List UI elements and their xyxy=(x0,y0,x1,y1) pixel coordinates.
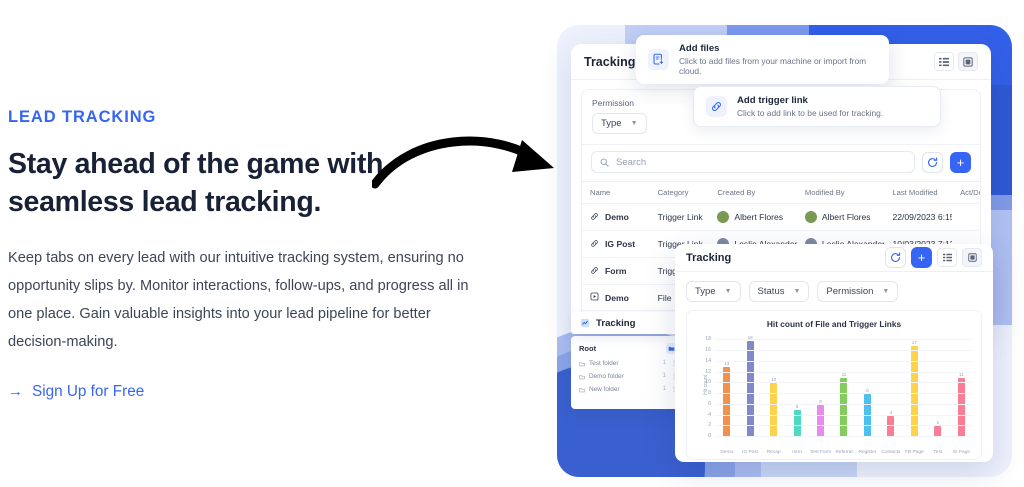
chart-bar xyxy=(770,383,777,437)
bar-value-label: 5 xyxy=(796,404,799,409)
folder-count: 1 xyxy=(663,373,666,380)
column-header: Name xyxy=(582,182,650,204)
y-tick-label: 4 xyxy=(708,412,711,418)
chart-filter-permission[interactable]: Permission▼ xyxy=(817,281,898,302)
chart-bar xyxy=(840,378,847,437)
cell-name: Demo xyxy=(582,285,650,311)
grid-line: 0 xyxy=(715,436,973,437)
cell-last-modified: 22/09/2023 6:15 PM xyxy=(884,204,952,231)
y-tick-label: 10 xyxy=(705,379,711,385)
chart-window-title: Tracking xyxy=(686,252,731,264)
window-title: Tracking xyxy=(584,55,635,69)
y-tick-label: 6 xyxy=(708,401,711,407)
refresh-icon[interactable] xyxy=(885,247,906,268)
permission-type-value: Type xyxy=(601,118,622,129)
tracking-mini-tab[interactable]: Tracking xyxy=(571,312,685,334)
add-trigger-link-tooltip[interactable]: Add trigger link Click to add link to be… xyxy=(693,86,941,127)
grid-view-icon[interactable] xyxy=(962,248,982,267)
search-placeholder: Search xyxy=(616,157,646,168)
y-tick-label: 18 xyxy=(705,336,711,342)
folder-item[interactable]: Test folder1⋮ xyxy=(579,360,677,367)
chart-toolbar: + xyxy=(885,247,982,268)
chart-bar xyxy=(958,378,965,437)
table-header-row: Name Category Created By Modified By Las… xyxy=(582,182,980,204)
bar-value-label: 11 xyxy=(959,372,964,377)
search-icon xyxy=(600,158,609,167)
file-icon xyxy=(590,292,599,303)
bar-value-label: 17 xyxy=(912,340,917,345)
tooltip-subtitle: Click to add files from your machine or … xyxy=(679,56,877,76)
chevron-down-icon: ▼ xyxy=(882,288,889,295)
folder-name: New folder xyxy=(589,386,620,393)
list-view-icon[interactable] xyxy=(934,52,954,71)
refresh-icon[interactable] xyxy=(922,152,943,173)
x-tick-label: IG Post xyxy=(738,450,761,455)
grid-line: 10 xyxy=(715,382,973,383)
y-tick-label: 2 xyxy=(708,422,711,428)
tooltip-subtitle: Click to add link to be used for trackin… xyxy=(737,108,883,118)
bar-value-label: 13 xyxy=(724,361,729,366)
chart-filter-group: Type▼Status▼Permission▼ xyxy=(675,272,993,310)
folder-icon xyxy=(579,387,585,393)
list-view-icon[interactable] xyxy=(937,248,957,267)
cell-modified-by: Albert Flores xyxy=(797,204,885,231)
column-header: Act/Dct xyxy=(952,182,980,204)
chart-bar xyxy=(911,346,918,437)
x-tick-label: Contacts xyxy=(879,450,902,455)
chevron-down-icon: ▼ xyxy=(631,120,638,127)
y-tick-label: 0 xyxy=(708,433,711,439)
column-header: Category xyxy=(650,182,710,204)
chart-filter-type[interactable]: Type▼ xyxy=(686,281,741,302)
column-header: Created By xyxy=(709,182,797,204)
folder-count: 1 xyxy=(663,386,666,393)
sign-up-label: Sign Up for Free xyxy=(32,383,144,401)
cell-toggle[interactable] xyxy=(952,204,980,231)
y-tick-label: 8 xyxy=(708,390,711,396)
search-input[interactable]: Search xyxy=(591,151,915,173)
link-icon xyxy=(590,212,599,223)
cell-name: IG Post xyxy=(582,231,650,258)
curved-arrow-icon xyxy=(372,126,572,198)
folder-name: Demo folder xyxy=(589,373,624,380)
page-root: LEAD TRACKING Stay ahead of the game wit… xyxy=(0,0,1024,487)
root-folder-panel: Root Test folder1⋮Demo folder1⋮New folde… xyxy=(571,336,685,409)
grid-line: 2 xyxy=(715,425,973,426)
tooltip-title: Add files xyxy=(679,43,877,54)
root-title: Root xyxy=(579,344,596,353)
folder-item[interactable]: Demo folder1⋮ xyxy=(579,373,677,380)
chart-container: Hit count of File and Trigger Links Hit … xyxy=(686,310,982,460)
folder-icon xyxy=(579,361,585,367)
x-tick-label: Demo xyxy=(715,450,738,455)
folder-name: Test folder xyxy=(589,360,618,367)
chart-bar xyxy=(817,405,824,437)
chart-bar xyxy=(747,341,754,437)
chart-window: Tracking + Type▼Status▼Permission▼ Hi xyxy=(675,244,993,462)
grid-line: 12 xyxy=(715,372,973,373)
cell-category: Trigger Link xyxy=(650,204,710,231)
link-icon xyxy=(590,239,599,250)
bar-value-label: 11 xyxy=(842,372,847,377)
sign-up-link[interactable]: → Sign Up for Free xyxy=(8,383,144,401)
arrow-right-icon: → xyxy=(8,384,23,399)
x-tick-label: Test Form xyxy=(809,450,832,455)
mini-tab-label: Tracking xyxy=(596,318,635,329)
y-tick-label: 14 xyxy=(705,358,711,364)
chevron-down-icon: ▼ xyxy=(725,288,732,295)
x-tick-label: Referral xyxy=(832,450,855,455)
column-header: Modified By xyxy=(797,182,885,204)
x-tick-label: Intro xyxy=(785,450,808,455)
grid-line: 18 xyxy=(715,339,973,340)
cell-name: Form xyxy=(582,258,650,285)
y-tick-label: 16 xyxy=(705,347,711,353)
chevron-down-icon: ▼ xyxy=(793,288,800,295)
permission-type-select[interactable]: Type ▼ xyxy=(592,113,647,134)
link-icon xyxy=(706,96,727,117)
x-tick-label: Register xyxy=(856,450,879,455)
product-mockup: Tracking Permission Type ▼ xyxy=(553,10,1018,480)
file-add-icon xyxy=(648,49,669,70)
chart-x-tick-labels: DemoIG PostRecapIntroTest FormReferralRe… xyxy=(715,450,973,455)
chart-filter-status[interactable]: Status▼ xyxy=(749,281,810,302)
grid-view-icon[interactable] xyxy=(958,52,978,71)
chart-plot-area: 13181056118417211 024681012141618 xyxy=(715,335,973,437)
grid-line: 16 xyxy=(715,350,973,351)
chart-title: Hit count of File and Trigger Links xyxy=(693,319,975,329)
folder-count: 1 xyxy=(663,360,666,367)
eyebrow-label: LEAD TRACKING xyxy=(8,108,508,127)
chart-bar xyxy=(864,394,871,437)
chart-window-header: Tracking + xyxy=(675,244,993,272)
cell-name: Demo xyxy=(582,204,650,231)
chart-bar xyxy=(723,367,730,437)
grid-line: 14 xyxy=(715,361,973,362)
view-toggle-group xyxy=(934,52,978,71)
x-tick-label: IG Page xyxy=(950,450,973,455)
link-icon xyxy=(590,266,599,277)
add-files-tooltip[interactable]: Add files Click to add files from your m… xyxy=(636,35,889,84)
tooltip-title: Add trigger link xyxy=(737,95,883,106)
folder-item[interactable]: New folder1⋮ xyxy=(579,386,677,393)
y-tick-label: 12 xyxy=(705,369,711,375)
tracking-icon xyxy=(580,318,590,328)
x-tick-label: Test xyxy=(926,450,949,455)
grid-line: 6 xyxy=(715,404,973,405)
body-paragraph: Keep tabs on every lead with our intuiti… xyxy=(8,244,490,356)
column-header: Last Modified xyxy=(884,182,952,204)
add-button[interactable]: + xyxy=(911,247,932,268)
grid-line: 8 xyxy=(715,393,973,394)
cell-created-by: Albert Flores xyxy=(709,204,797,231)
root-header: Root xyxy=(579,343,677,354)
table-row[interactable]: DemoTrigger LinkAlbert FloresAlbert Flor… xyxy=(582,204,980,231)
add-button[interactable]: + xyxy=(950,152,971,173)
folder-list: Test folder1⋮Demo folder1⋮New folder1⋮ xyxy=(579,360,677,393)
grid-line: 4 xyxy=(715,415,973,416)
x-tick-label: FB Page xyxy=(903,450,926,455)
folder-icon xyxy=(579,374,585,380)
search-row: Search + xyxy=(582,144,980,181)
chart-bar xyxy=(887,416,894,437)
x-tick-label: Recap xyxy=(762,450,785,455)
